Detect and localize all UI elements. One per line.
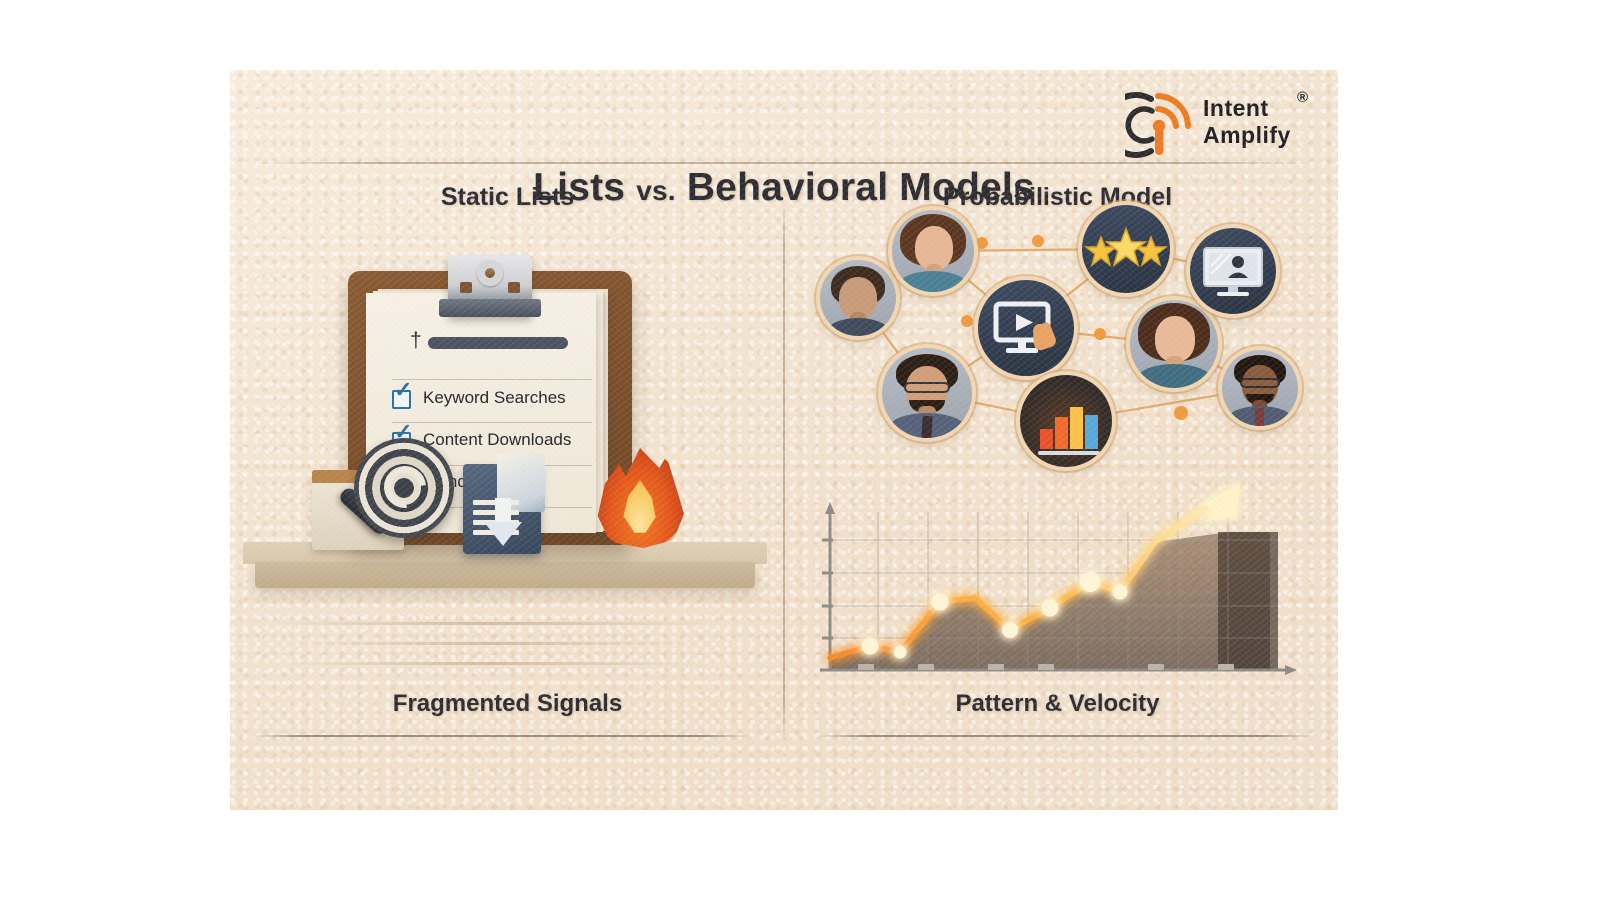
shelf-shadow-line-3: [280, 662, 704, 665]
star-rating-node[interactable]: [1082, 205, 1170, 293]
document-download-icon: [463, 454, 551, 554]
brand-wordmark: Intent Amplify: [1203, 95, 1291, 149]
left-panel-caption: Fragmented Signals: [270, 690, 745, 718]
person-avatar-node[interactable]: [820, 260, 896, 336]
bar-chart-node[interactable]: [1020, 375, 1112, 467]
behavioral-network-graph: [792, 200, 1322, 480]
person-avatar-node[interactable]: [1222, 350, 1298, 426]
shelf-front: [255, 562, 755, 588]
dagger-icon: †: [410, 329, 422, 353]
left-panel-heading: Static Lists: [270, 183, 745, 212]
page-rule: [392, 422, 592, 423]
panel-divider: [783, 200, 785, 745]
check-icon: ✓: [394, 379, 413, 400]
page-rule: [392, 379, 592, 380]
shelf-shadow-line-1: [268, 622, 720, 625]
header-divider: [252, 162, 1316, 164]
clip-bar: [439, 299, 541, 317]
checklist-item[interactable]: ✓ Keyword Searches: [392, 385, 602, 419]
growth-line-chart: [800, 470, 1310, 700]
magnifier-target-refresh-icon: [328, 438, 454, 564]
clip-slot: [508, 282, 520, 293]
chart-svg: [800, 470, 1310, 700]
clip-ring: [477, 260, 503, 286]
brand-logo[interactable]: Intent Amplify ®: [1125, 87, 1321, 163]
user-screen-node[interactable]: [1190, 228, 1276, 314]
brand-word-line2: Amplify: [1203, 122, 1291, 149]
redacted-title-bar: [428, 337, 568, 349]
brand-word-line1: Intent: [1203, 95, 1291, 122]
registered-trademark-icon: ®: [1297, 89, 1308, 106]
person-avatar-node[interactable]: [892, 210, 974, 292]
shelf-shadow-line-2: [274, 642, 712, 645]
checklist-item-label: Keyword Searches: [423, 388, 566, 408]
x-axis-arrow-icon: [1285, 665, 1297, 675]
clip-slot: [460, 282, 472, 293]
trend-arrow-icon: [1202, 484, 1240, 522]
video-play-node[interactable]: [978, 280, 1074, 376]
right-caption-divider: [816, 735, 1316, 737]
person-avatar-node[interactable]: [882, 348, 972, 438]
left-caption-divider: [252, 735, 752, 737]
flame-trending-icon: [590, 444, 690, 552]
screenshot-root: Lists vs. Behavioral Models: [0, 0, 1600, 900]
clipboard-clip-icon: [448, 255, 532, 317]
right-panel-caption: Pattern & Velocity: [820, 690, 1295, 718]
infographic-canvas: Lists vs. Behavioral Models: [230, 70, 1338, 810]
y-axis-arrow-icon: [825, 502, 835, 514]
signal-wave-icon: [1125, 89, 1197, 161]
